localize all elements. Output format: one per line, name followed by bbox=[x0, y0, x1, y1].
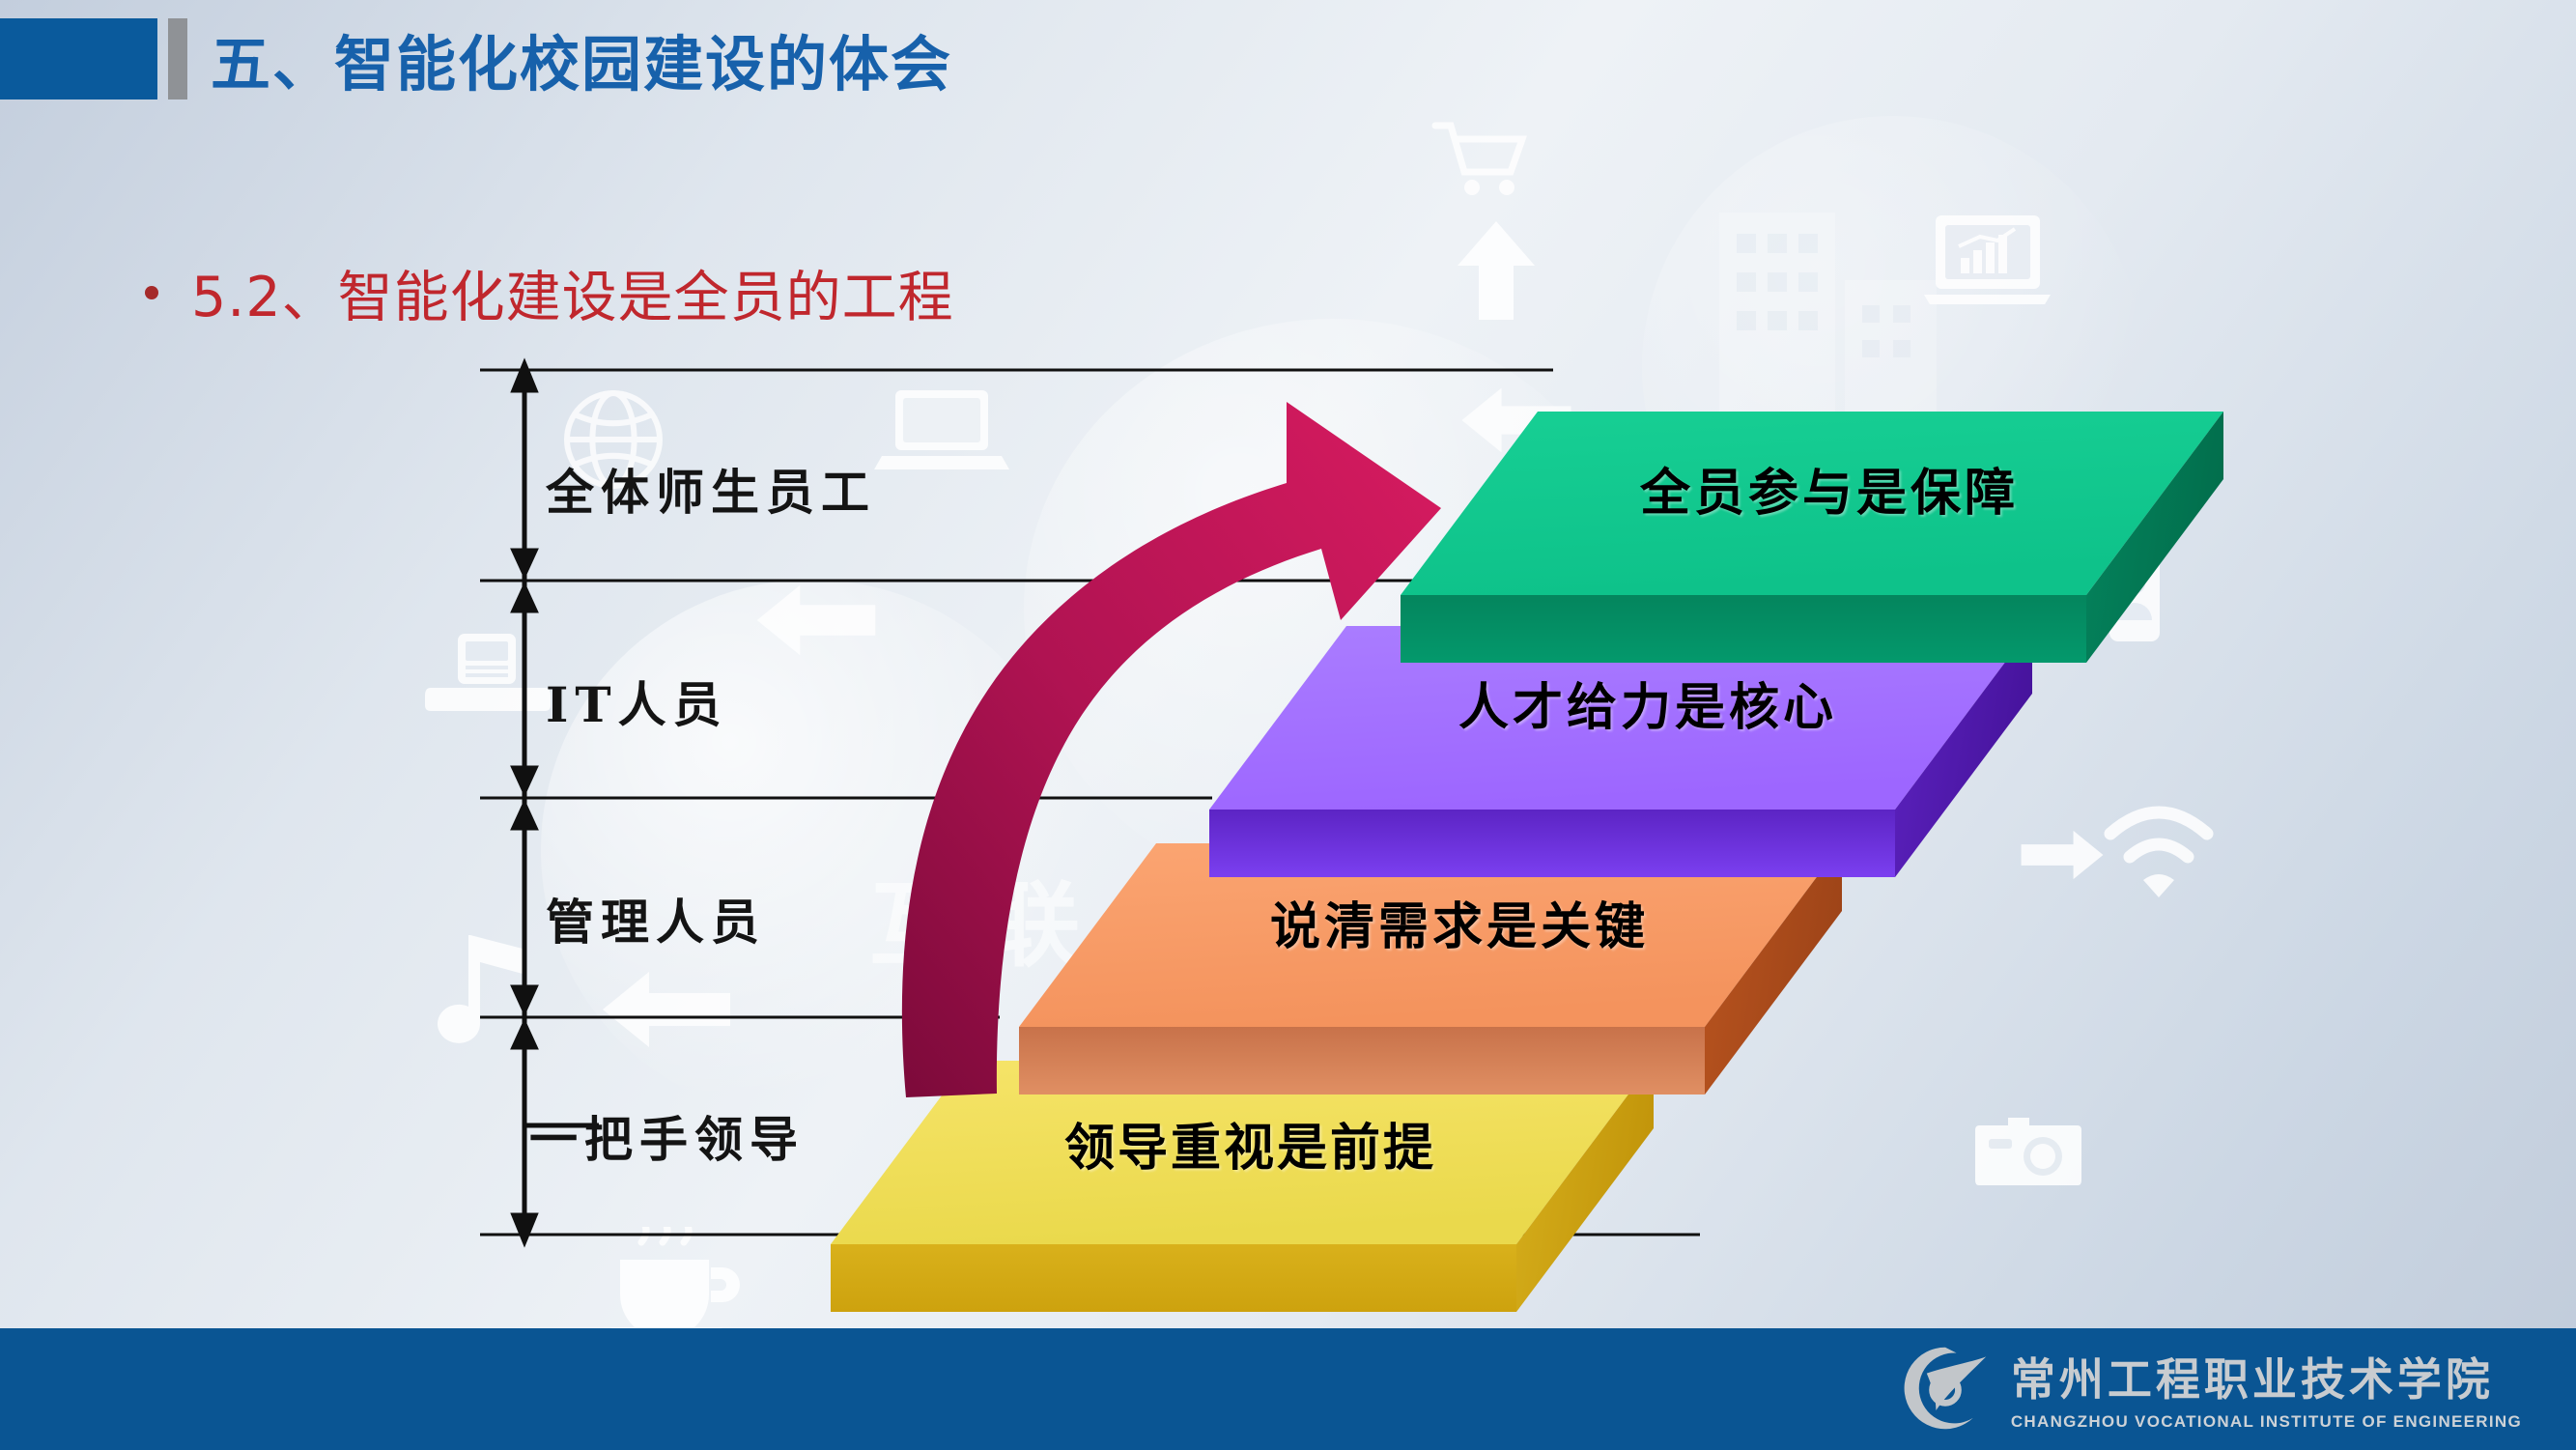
left-arrow-icon bbox=[599, 966, 734, 1053]
axis-label-3: 一把手领导 bbox=[529, 1101, 805, 1171]
step-label-2: 人才给力是核心 bbox=[1458, 667, 1837, 739]
left-arrow-icon bbox=[753, 580, 879, 661]
bullet-icon bbox=[145, 286, 158, 299]
shopping-cart-icon bbox=[1430, 116, 1536, 203]
camera-icon bbox=[1975, 1106, 2081, 1193]
institute-name-en: CHANGZHOU VOCATIONAL INSTITUTE OF ENGINE… bbox=[2011, 1412, 2522, 1432]
institute-name-cn: 常州工程职业技术学院 bbox=[2011, 1345, 2522, 1408]
step-label-1: 全员参与是保障 bbox=[1640, 452, 2019, 525]
fax-icon bbox=[425, 628, 551, 717]
header-accent-box bbox=[0, 18, 157, 100]
subtitle-row: 5.2、智能化建设是全员的工程 bbox=[145, 253, 954, 332]
institute-logo: 常州工程职业技术学院 CHANGZHOU VOCATIONAL INSTITUT… bbox=[1899, 1342, 2522, 1435]
chart-laptop-icon bbox=[1922, 208, 2052, 314]
subtitle-text: 5.2、智能化建设是全员的工程 bbox=[191, 253, 954, 332]
cz-swoosh-logo-icon bbox=[1899, 1342, 1992, 1435]
axis-label-2: 管理人员 bbox=[546, 884, 766, 953]
music-note-icon bbox=[420, 927, 536, 1063]
laptop-icon bbox=[874, 377, 1009, 483]
step-label-4: 领导重视是前提 bbox=[1064, 1107, 1436, 1180]
axis-label-0: 全体师生员工 bbox=[546, 454, 876, 524]
up-arrow-icon bbox=[1454, 217, 1539, 324]
axis-label-1: IT人员 bbox=[546, 667, 728, 736]
step-label-3: 说清需求是关键 bbox=[1270, 886, 1649, 958]
step-block-1[interactable]: 全员参与是保障 bbox=[1381, 355, 2347, 626]
slide-root: 互联 bbox=[0, 0, 2576, 1450]
footer-bar: 常州工程职业技术学院 CHANGZHOU VOCATIONAL INSTITUT… bbox=[0, 1328, 2576, 1450]
header-accent-bar bbox=[168, 18, 187, 100]
coffee-cup-icon bbox=[599, 1227, 744, 1343]
page-title: 五、智能化校园建设的体会 bbox=[211, 15, 952, 102]
